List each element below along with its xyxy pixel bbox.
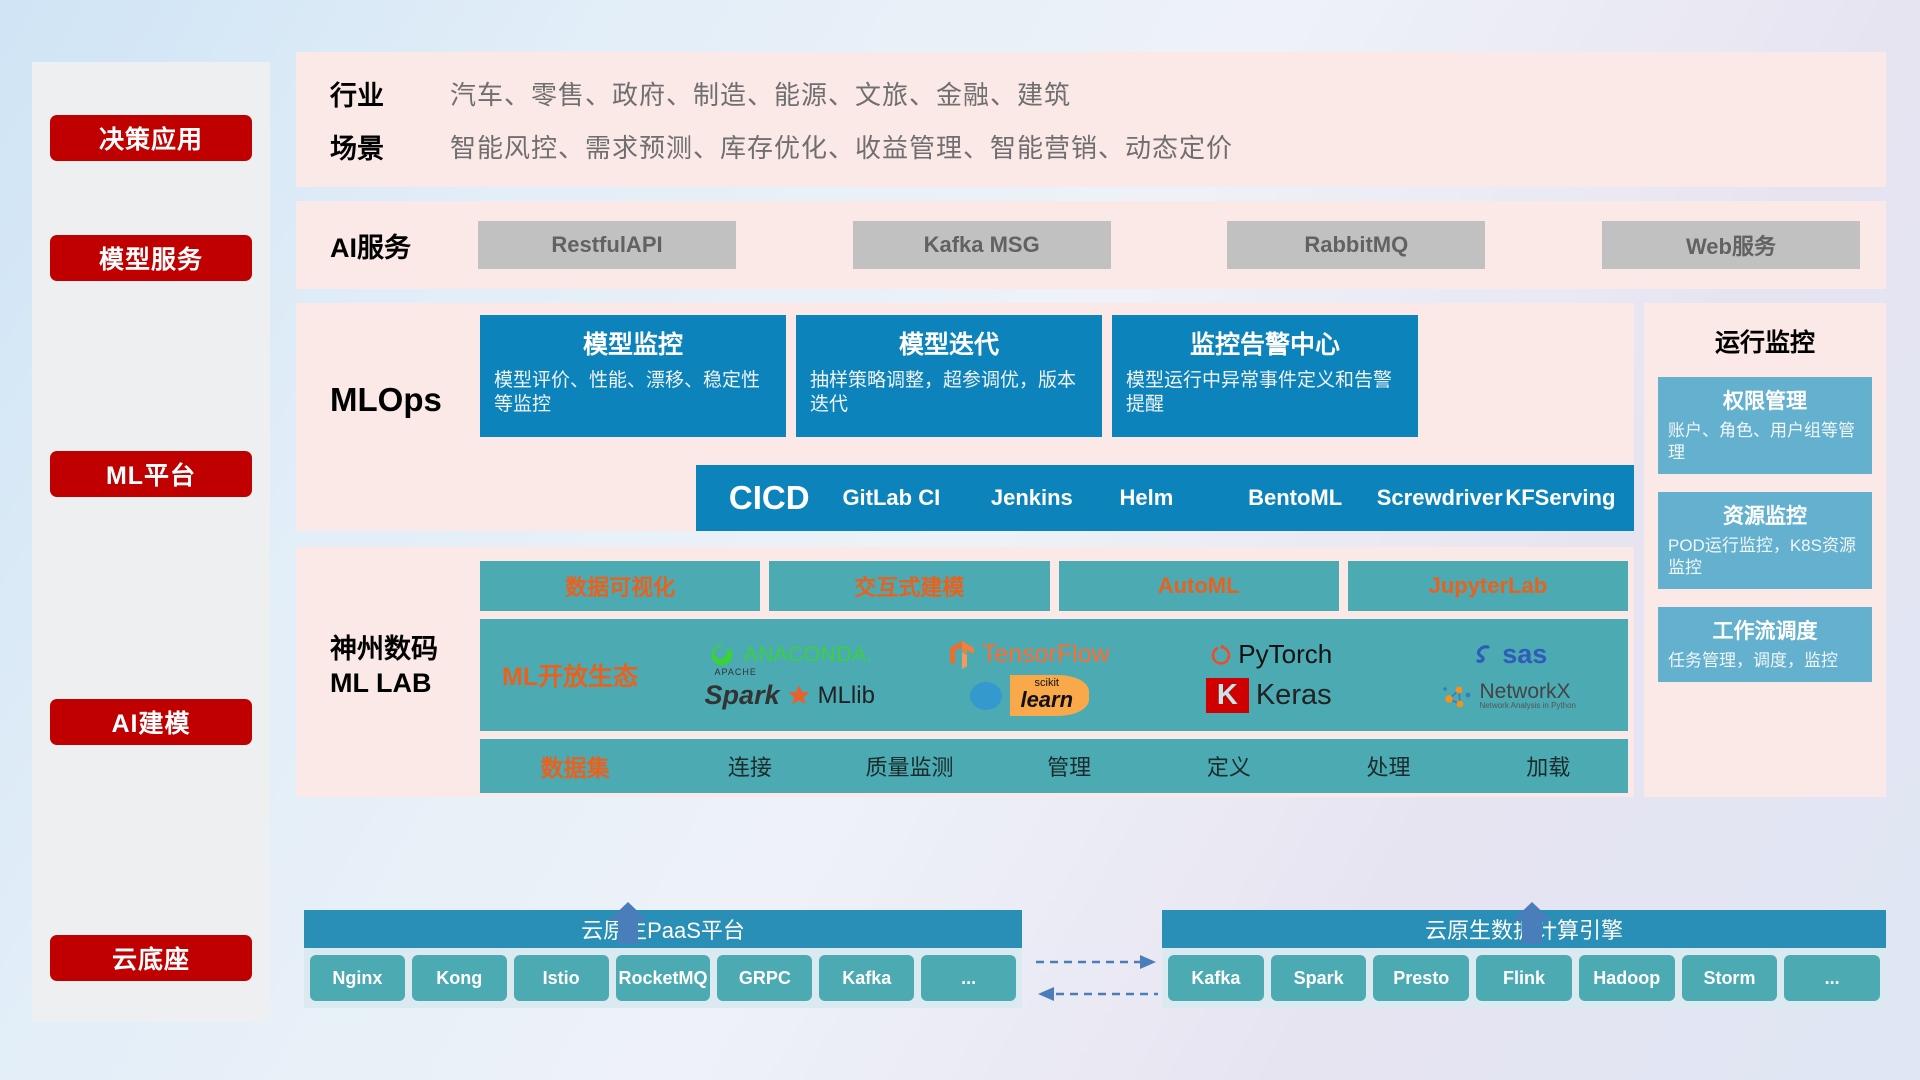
pytorch-mark-icon bbox=[1205, 641, 1231, 669]
tool-chip-automl[interactable]: AutoML bbox=[1059, 561, 1339, 611]
networkx-wordmark: NetworkX bbox=[1480, 681, 1577, 702]
rail-item-ai-modeling[interactable]: AI建模 bbox=[50, 699, 252, 745]
card-desc: POD运行监控，K8S资源监控 bbox=[1668, 535, 1862, 579]
paas-chip-more[interactable]: ... bbox=[921, 955, 1016, 1001]
cicd-item-gitlab-ci[interactable]: GitLab CI bbox=[842, 485, 990, 511]
card-desc: 模型运行中异常事件定义和告警提醒 bbox=[1126, 369, 1404, 417]
rail-label: 决策应用 bbox=[99, 120, 203, 156]
paas-chip-nginx[interactable]: Nginx bbox=[310, 955, 405, 1001]
arrow-up-icon bbox=[1510, 902, 1554, 944]
engine-chip-more[interactable]: ... bbox=[1784, 955, 1880, 1001]
monitoring-card-workflow[interactable]: 工作流调度 任务管理，调度，监控 bbox=[1658, 607, 1872, 682]
monitoring-title: 运行监控 bbox=[1658, 323, 1872, 359]
arrow-up-icon bbox=[606, 902, 650, 944]
monitoring-card-resource[interactable]: 资源监控 POD运行监控，K8S资源监控 bbox=[1658, 492, 1872, 589]
industry-value: 汽车、零售、政府、制造、能源、文旅、金融、建筑 bbox=[450, 75, 1071, 112]
networkx-graph-icon bbox=[1441, 681, 1473, 711]
keras-wordmark: Keras bbox=[1256, 679, 1332, 712]
sas-logo: sas bbox=[1389, 639, 1629, 670]
cicd-item-screwdriver[interactable]: Screwdriver bbox=[1377, 485, 1506, 511]
mlops-label: MLOps bbox=[330, 381, 480, 419]
mlops-card-alert-center[interactable]: 监控告警中心 模型运行中异常事件定义和告警提醒 bbox=[1112, 315, 1418, 437]
industry-row: 行业 汽车、零售、政府、制造、能源、文旅、金融、建筑 bbox=[330, 74, 1886, 113]
dataset-item-quality-monitor[interactable]: 质量监测 bbox=[830, 750, 990, 782]
spark-wordmark: Spark bbox=[705, 680, 780, 710]
ecosystem-label: ML开放生态 bbox=[480, 657, 670, 693]
tensorflow-wordmark: TensorFlow bbox=[982, 640, 1110, 669]
engine-chip-flink[interactable]: Flink bbox=[1476, 955, 1572, 1001]
cloud-foundation-section: 云原生PaaS平台 Nginx Kong Istio RocketMQ GRPC… bbox=[296, 876, 1886, 1026]
ai-service-label: AI服务 bbox=[330, 226, 478, 265]
dataset-title: 数据集 bbox=[480, 749, 670, 783]
service-chip-web-service[interactable]: Web服务 bbox=[1602, 221, 1860, 269]
rail-item-ml-platform[interactable]: ML平台 bbox=[50, 451, 252, 497]
tensorflow-mark-icon bbox=[949, 640, 975, 670]
engine-chip-kafka[interactable]: Kafka bbox=[1168, 955, 1264, 1001]
networkx-logo: NetworkX Network Analysis in Python bbox=[1389, 681, 1629, 711]
ml-lab-label-line2: ML LAB bbox=[330, 667, 480, 701]
architecture-main-column: 行业 汽车、零售、政府、制造、能源、文旅、金融、建筑 场景 智能风控、需求预测、… bbox=[296, 52, 1886, 797]
anaconda-logo: ANACONDA. bbox=[670, 640, 910, 670]
card-title: 模型监控 bbox=[494, 325, 772, 361]
cloud-paas-title: 云原生PaaS平台 bbox=[304, 910, 1022, 948]
bidirectional-dashed-arrows-icon bbox=[1032, 948, 1160, 1008]
rail-item-model-service[interactable]: 模型服务 bbox=[50, 235, 252, 281]
card-desc: 账户、角色、用户组等管理 bbox=[1668, 420, 1862, 464]
mlops-card-model-monitoring[interactable]: 模型监控 模型评价、性能、漂移、稳定性等监控 bbox=[480, 315, 786, 437]
cicd-item-helm[interactable]: Helm bbox=[1119, 485, 1248, 511]
paas-chip-rocketmq[interactable]: RocketMQ bbox=[616, 955, 711, 1001]
sas-mark-icon bbox=[1469, 642, 1495, 668]
engine-chip-presto[interactable]: Presto bbox=[1373, 955, 1469, 1001]
scikit-learn-logo: scikit learn bbox=[910, 675, 1150, 716]
service-chip-rabbitmq[interactable]: RabbitMQ bbox=[1227, 221, 1485, 269]
keras-mark-icon: K bbox=[1206, 678, 1249, 714]
mlops-card-model-iteration[interactable]: 模型迭代 抽样策略调整，超参调优，版本迭代 bbox=[796, 315, 1102, 437]
scenario-key: 场景 bbox=[330, 127, 450, 166]
apache-wordmark: APACHE bbox=[715, 667, 757, 677]
pytorch-logo: PyTorch bbox=[1149, 639, 1389, 670]
ai-service-band: AI服务 RestfulAPI Kafka MSG RabbitMQ Web服务 bbox=[296, 201, 1886, 289]
card-title: 权限管理 bbox=[1668, 385, 1862, 415]
cicd-item-bentoml[interactable]: BentoML bbox=[1248, 485, 1377, 511]
tool-chip-data-visualization[interactable]: 数据可视化 bbox=[480, 561, 760, 611]
dataset-item-define[interactable]: 定义 bbox=[1149, 750, 1309, 782]
rail-item-decision-app[interactable]: 决策应用 bbox=[50, 115, 252, 161]
learn-wordmark: learn bbox=[1020, 689, 1073, 711]
tool-chip-jupyterlab[interactable]: JupyterLab bbox=[1348, 561, 1628, 611]
cicd-bar: CICD GitLab CI Jenkins Helm BentoML Scre… bbox=[696, 465, 1634, 531]
service-chip-kafka-msg[interactable]: Kafka MSG bbox=[853, 221, 1111, 269]
card-title: 工作流调度 bbox=[1668, 615, 1862, 645]
cloud-paas-group: 云原生PaaS平台 Nginx Kong Istio RocketMQ GRPC… bbox=[304, 910, 1022, 1008]
cicd-title: CICD bbox=[696, 479, 842, 517]
rail-label: AI建模 bbox=[111, 704, 190, 740]
cloud-data-engine-group: 云原生数据计算引擎 Kafka Spark Presto Flink Hadoo… bbox=[1162, 910, 1886, 1008]
service-chip-restfulapi[interactable]: RestfulAPI bbox=[478, 221, 736, 269]
dataset-item-manage[interactable]: 管理 bbox=[989, 750, 1149, 782]
rail-label: 云底座 bbox=[112, 940, 190, 976]
anaconda-mark-icon bbox=[707, 640, 737, 670]
sas-wordmark: sas bbox=[1502, 639, 1547, 670]
scikit-blue-blob-icon bbox=[969, 680, 1003, 712]
spark-star-icon bbox=[787, 684, 811, 708]
paas-chip-grpc[interactable]: GRPC bbox=[717, 955, 812, 1001]
card-title: 监控告警中心 bbox=[1126, 325, 1404, 361]
card-desc: 模型评价、性能、漂移、稳定性等监控 bbox=[494, 369, 772, 417]
tool-chip-interactive-modeling[interactable]: 交互式建模 bbox=[769, 561, 1049, 611]
stack-layer-rail: 决策应用 模型服务 ML平台 AI建模 云底座 bbox=[32, 62, 270, 1022]
ml-lab-label-line1: 神州数码 bbox=[330, 633, 480, 667]
dataset-row: 数据集 连接 质量监测 管理 定义 处理 加载 bbox=[480, 739, 1628, 793]
anaconda-wordmark: ANACONDA. bbox=[744, 643, 873, 667]
engine-chip-storm[interactable]: Storm bbox=[1682, 955, 1778, 1001]
dataset-item-connect[interactable]: 连接 bbox=[670, 750, 830, 782]
rail-label: 模型服务 bbox=[99, 240, 203, 276]
tensorflow-logo: TensorFlow bbox=[910, 640, 1150, 670]
runtime-monitoring-column: 运行监控 权限管理 账户、角色、用户组等管理 资源监控 POD运行监控，K8S资… bbox=[1644, 303, 1886, 797]
card-desc: 任务管理，调度，监控 bbox=[1668, 650, 1862, 672]
industry-key: 行业 bbox=[330, 74, 450, 113]
engine-chip-spark[interactable]: Spark bbox=[1271, 955, 1367, 1001]
dataset-item-load[interactable]: 加载 bbox=[1468, 750, 1628, 782]
rail-label: ML平台 bbox=[106, 456, 196, 492]
ai-modeling-band: 神州数码 ML LAB 数据可视化 交互式建模 AutoML JupyterLa… bbox=[296, 547, 1634, 797]
dataset-item-process[interactable]: 处理 bbox=[1309, 750, 1469, 782]
card-title: 资源监控 bbox=[1668, 500, 1862, 530]
card-title: 模型迭代 bbox=[810, 325, 1088, 361]
monitoring-card-permission[interactable]: 权限管理 账户、角色、用户组等管理 bbox=[1658, 377, 1872, 474]
paas-chip-kafka[interactable]: Kafka bbox=[819, 955, 914, 1001]
engine-chip-hadoop[interactable]: Hadoop bbox=[1579, 955, 1675, 1001]
spark-mllib-logo: APACHE Spark MLlib bbox=[670, 680, 910, 711]
paas-chip-kong[interactable]: Kong bbox=[412, 955, 507, 1001]
ml-lab-label: 神州数码 ML LAB bbox=[330, 633, 480, 701]
networkx-tagline: Network Analysis in Python bbox=[1480, 702, 1577, 710]
rail-item-cloud-base[interactable]: 云底座 bbox=[50, 935, 252, 981]
keras-logo: K Keras bbox=[1149, 678, 1389, 714]
mllib-wordmark: MLlib bbox=[818, 682, 875, 710]
ml-ecosystem-row: ML开放生态 ANACONDA. bbox=[480, 619, 1628, 731]
cicd-item-kfserving[interactable]: KFServing bbox=[1505, 485, 1634, 511]
paas-chip-istio[interactable]: Istio bbox=[514, 955, 609, 1001]
modeling-tools-row: 数据可视化 交互式建模 AutoML JupyterLab bbox=[480, 561, 1628, 611]
scenario-row: 场景 智能风控、需求预测、库存优化、收益管理、智能营销、动态定价 bbox=[330, 127, 1886, 166]
mlops-band: MLOps 模型监控 模型评价、性能、漂移、稳定性等监控 模型迭代 抽样策略调整… bbox=[296, 303, 1634, 531]
cicd-item-jenkins[interactable]: Jenkins bbox=[991, 485, 1120, 511]
scenario-value: 智能风控、需求预测、库存优化、收益管理、智能营销、动态定价 bbox=[450, 128, 1233, 165]
application-band: 行业 汽车、零售、政府、制造、能源、文旅、金融、建筑 场景 智能风控、需求预测、… bbox=[296, 52, 1886, 187]
pytorch-wordmark: PyTorch bbox=[1238, 639, 1332, 670]
card-desc: 抽样策略调整，超参调优，版本迭代 bbox=[810, 369, 1088, 417]
